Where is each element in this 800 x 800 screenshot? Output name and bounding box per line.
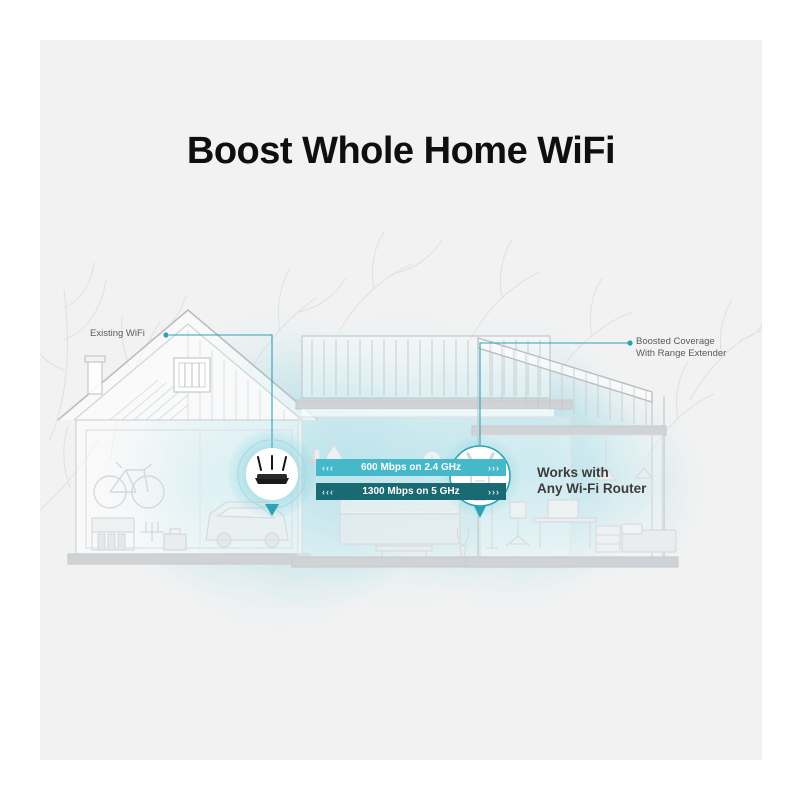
boosted-coverage-label-line2: With Range Extender [636,348,726,360]
band-arrows-left: ‹‹‹ [316,463,340,473]
chimney [85,356,105,394]
band-arrows-right: ››› [482,463,506,473]
band-label-5ghz: 1300 Mbps on 5 GHz [340,486,482,497]
house-illustration [40,40,762,760]
mid-floor-slab [296,400,572,409]
band-arrows-right: ››› [482,487,506,497]
speed-band-5ghz: ‹‹‹ 1300 Mbps on 5 GHz ››› [316,483,506,500]
existing-wifi-label: Existing WiFi [90,328,145,340]
left-foundation [68,554,310,564]
works-with-line1: Works with [537,465,646,481]
works-with-line2: Any Wi-Fi Router [537,481,646,497]
band-arrows-left: ‹‹‹ [316,487,340,497]
speed-band-2-4ghz: ‹‹‹ 600 Mbps on 2.4 GHz ››› [316,459,506,476]
screenshot-root: Boost Whole Home WiFi [0,0,800,800]
existing-wifi-callout: Existing WiFi [90,328,145,340]
living-sofa [340,498,460,544]
boosted-coverage-label-line1: Boosted Coverage [636,336,726,348]
right-foundation [466,557,678,567]
band-label-2-4ghz: 600 Mbps on 2.4 GHz [340,462,482,473]
leader-dot-existing-wifi [163,332,168,337]
attic-window [174,358,210,392]
right-floor-slab [472,426,666,435]
content-panel: Boost Whole Home WiFi [40,40,762,760]
works-with-label: Works with Any Wi-Fi Router [537,465,646,497]
router-marker [228,430,316,518]
leader-dot-boosted-coverage [627,340,632,345]
boosted-coverage-callout: Boosted Coverage With Range Extender [636,336,726,359]
drawer-unit [596,526,620,552]
